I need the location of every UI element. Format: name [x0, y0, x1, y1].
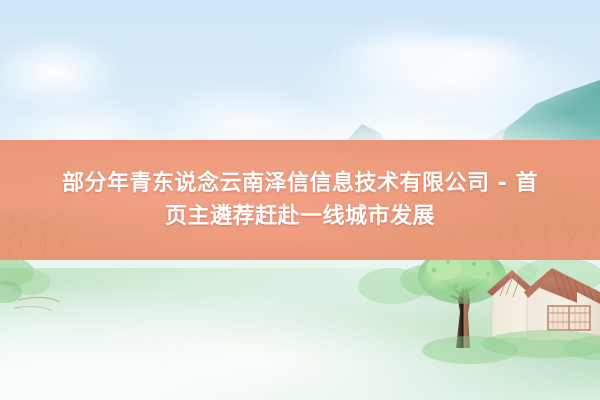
headline-band: 部分年青东说念云南泽信信息技术有限公司 - 首 页主遴荐赶赴一线城市发展 — [0, 140, 600, 260]
headline-line-2: 页主遴荐赶赴一线城市发展 — [165, 203, 435, 230]
banner: 部分年青东说念云南泽信信息技术有限公司 - 首 页主遴荐赶赴一线城市发展 — [0, 0, 600, 400]
headline-text: 部分年青东说念云南泽信信息技术有限公司 - 首 页主遴荐赶赴一线城市发展 — [0, 140, 600, 260]
headline-line-1: 部分年青东说念云南泽信信息技术有限公司 - 首 — [62, 170, 538, 197]
ground-background — [0, 250, 600, 400]
